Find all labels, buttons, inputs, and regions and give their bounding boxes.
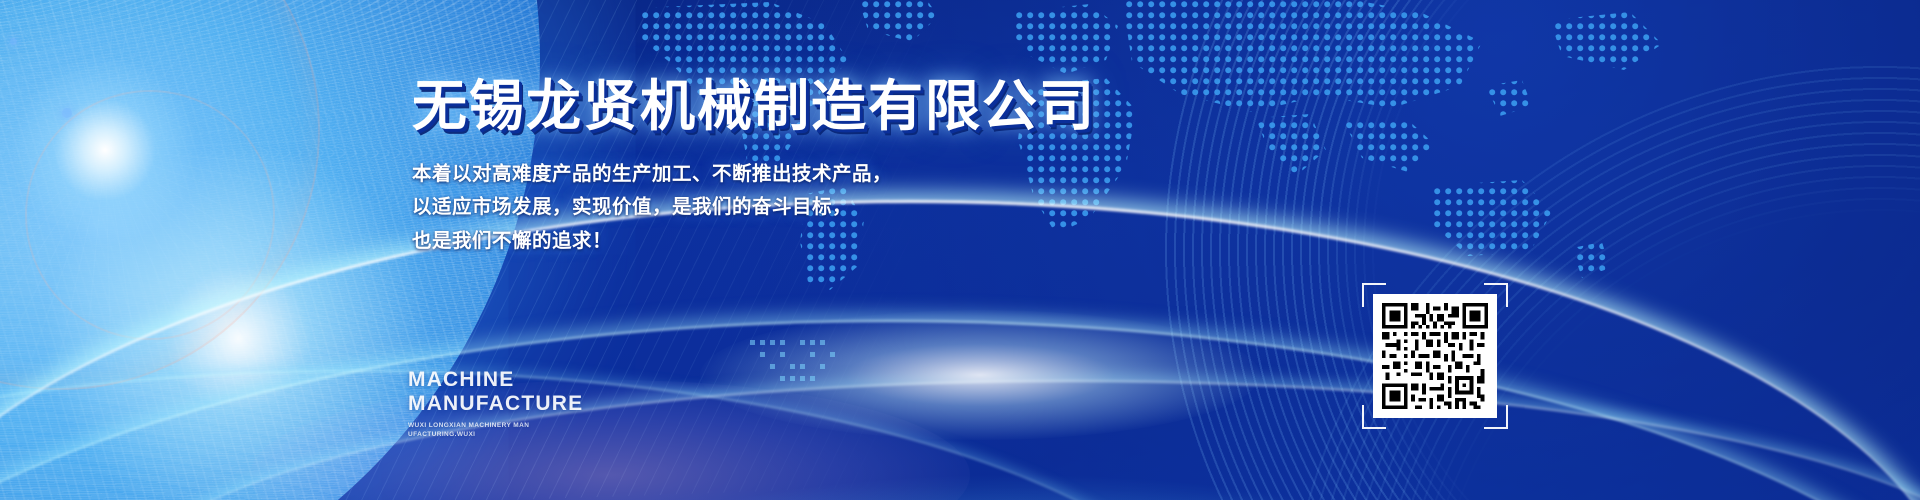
qr-code-card[interactable] [1373, 294, 1497, 418]
subtitle-line-1: 本着以对高难度产品的生产加工、不断推出技术产品， [412, 158, 1412, 192]
watermark-line-2: MANUFACTURE [408, 392, 583, 416]
banner-content: 无锡龙贤机械制造有限公司 本着以对高难度产品的生产加工、不断推出技术产品， 以适… [412, 78, 1412, 258]
company-banner: 无锡龙贤机械制造有限公司 本着以对高难度产品的生产加工、不断推出技术产品， 以适… [0, 0, 1920, 500]
watermark-block: MACHINE MANUFACTURE WUXI LONGXIAN MACHIN… [408, 368, 583, 440]
watermark-line-1: MACHINE [408, 368, 583, 392]
company-title: 无锡龙贤机械制造有限公司 [412, 78, 1412, 136]
dot-cluster-icon [746, 338, 956, 400]
qr-code-block[interactable] [1362, 283, 1508, 429]
lens-flare-dot-small-icon [10, 38, 17, 45]
lens-flare-dot-icon [62, 108, 72, 118]
watermark-small-text: WUXI LONGXIAN MACHINERY MAN UFACTURING.W… [408, 421, 538, 440]
banner-subtitle: 本着以对高难度产品的生产加工、不断推出技术产品， 以适应市场发展，实现价值，是我… [412, 158, 1412, 259]
watermark-small-line-1: WUXI LONGXIAN MACHINERY MAN [408, 421, 538, 430]
subtitle-line-2: 以适应市场发展，实现价值，是我们的奋斗目标， [412, 191, 1412, 225]
subtitle-line-3: 也是我们不懈的追求！ [412, 225, 1412, 259]
watermark-small-line-2: UFACTURING.WUXI [408, 430, 538, 439]
qr-code-icon [1382, 303, 1488, 409]
